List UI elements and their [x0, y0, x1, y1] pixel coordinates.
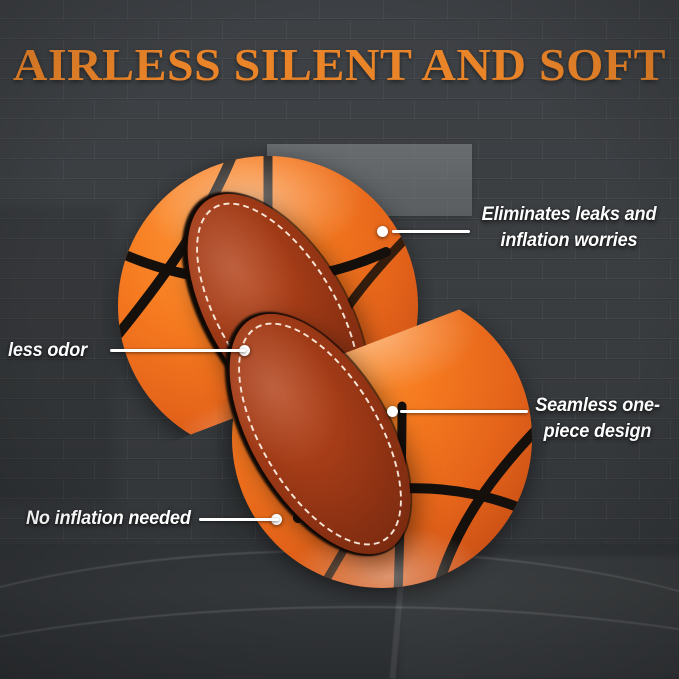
callout-leaks-leader-line — [392, 230, 470, 233]
callout-leaks-dot — [377, 226, 388, 237]
callout-odor-leader-line — [110, 349, 246, 352]
callout-leaks-line2: inflation worries — [469, 227, 668, 253]
callout-leaks-label: Eliminates leaks and inflation worries — [469, 201, 668, 254]
callout-noinflation-label: No inflation needed — [26, 505, 193, 531]
callout-noinflation-line1: No inflation needed — [26, 505, 193, 531]
callout-seamless-label: Seamless one- piece design — [525, 392, 669, 445]
callout-odor-line1: less odor — [8, 337, 108, 363]
callout-seamless-line1: Seamless one- — [525, 392, 669, 418]
infographic-canvas: AIRLESS SILENT AND SOFT — [0, 0, 679, 679]
callout-seamless-dot — [387, 406, 398, 417]
callout-seamless-line2: piece design — [525, 418, 669, 444]
lower-ball-half — [232, 288, 532, 588]
page-title: AIRLESS SILENT AND SOFT — [0, 42, 679, 88]
callout-seamless-leader-line — [400, 410, 528, 413]
callout-leaks-line1: Eliminates leaks and — [469, 201, 668, 227]
callout-noinflation-leader-line — [199, 518, 279, 521]
callout-odor-label: less odor — [8, 337, 108, 363]
